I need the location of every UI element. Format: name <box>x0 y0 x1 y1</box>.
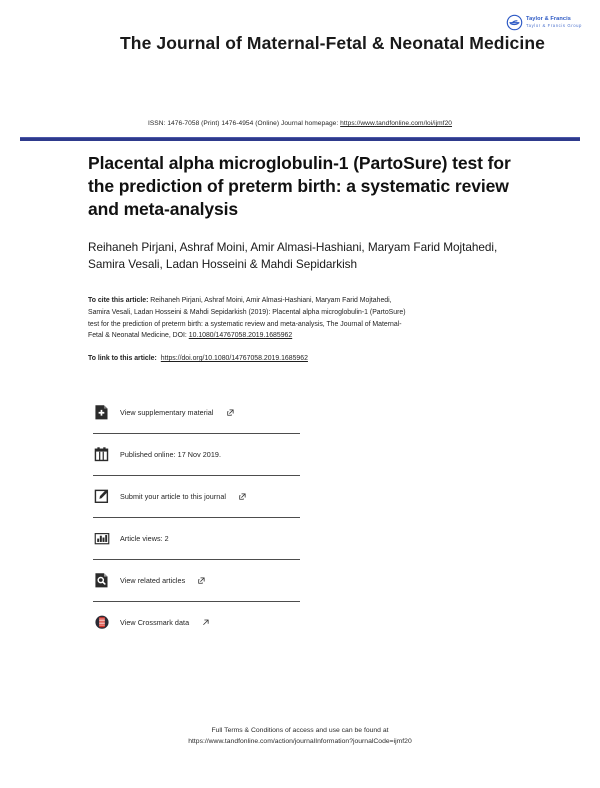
action-label: View Crossmark data <box>120 618 189 627</box>
page-footer: Full Terms & Conditions of access and us… <box>0 726 600 747</box>
issn-line: ISSN: 1476-7058 (Print) 1476-4954 (Onlin… <box>0 120 600 127</box>
taylor-francis-circle-icon <box>506 14 523 31</box>
journal-title: The Journal of Maternal-Fetal & Neonatal… <box>120 33 545 54</box>
action-submit-article[interactable]: Submit your article to this journal <box>93 476 308 517</box>
footer-url-line: https://www.tandfonline.com/action/journ… <box>0 737 600 748</box>
link-label: To link to this article: <box>88 355 157 362</box>
issn-text: ISSN: 1476-7058 (Print) 1476-4954 (Onlin… <box>148 120 340 127</box>
calendar-icon <box>93 445 111 464</box>
publisher-name: Taylor & Francis <box>526 17 582 23</box>
external-link-icon <box>202 619 209 626</box>
action-published-online: Published online: 17 Nov 2019. <box>93 434 308 475</box>
publisher-tagline: Taylor & Francis Group <box>526 24 582 28</box>
external-link-icon <box>239 493 246 500</box>
footer-terms-line: Full Terms & Conditions of access and us… <box>0 726 600 737</box>
taylor-francis-logo-text: Taylor & Francis Taylor & Francis Group <box>526 17 582 28</box>
article-authors: Reihaneh Pirjani, Ashraf Moini, Amir Alm… <box>88 239 518 273</box>
action-label: Submit your article to this journal <box>120 492 226 501</box>
masthead: The Journal of Maternal-Fetal & Neonatal… <box>0 0 600 120</box>
taylor-francis-logo: Taylor & Francis Taylor & Francis Group <box>506 14 582 31</box>
external-link-icon <box>198 577 205 584</box>
article-title: Placental alpha microglobulin-1 (PartoSu… <box>88 152 518 220</box>
supplementary-document-plus-icon <box>93 403 111 422</box>
action-view-related-articles[interactable]: View related articles <box>93 560 308 601</box>
citation-block: To cite this article: Reihaneh Pirjani, … <box>88 295 408 343</box>
article-cover-page: The Journal of Maternal-Fetal & Neonatal… <box>0 0 600 788</box>
action-label: Article views: 2 <box>120 534 169 543</box>
action-label: View supplementary material <box>120 408 214 417</box>
bar-chart-icon <box>93 529 111 548</box>
submit-pencil-icon <box>93 487 111 506</box>
article-link-block: To link to this article:https://doi.org/… <box>88 355 518 362</box>
article-info: Placental alpha microglobulin-1 (PartoSu… <box>88 152 518 362</box>
article-doi-link[interactable]: https://doi.org/10.1080/14767058.2019.16… <box>161 355 308 362</box>
citation-doi-link[interactable]: 10.1080/14767058.2019.1685962 <box>189 332 292 339</box>
action-label: Published online: 17 Nov 2019. <box>120 450 221 459</box>
action-view-supplementary-material[interactable]: View supplementary material <box>93 392 308 433</box>
crossmark-icon <box>93 613 111 632</box>
action-article-views: Article views: 2 <box>93 518 308 559</box>
journal-homepage-link[interactable]: https://www.tandfonline.com/loi/ijmf20 <box>340 120 452 127</box>
cite-label: To cite this article: <box>88 297 148 304</box>
action-label: View related articles <box>120 576 185 585</box>
masthead-divider <box>20 137 580 141</box>
article-actions-list: View supplementary material Published on… <box>93 392 308 643</box>
related-articles-search-icon <box>93 571 111 590</box>
external-link-icon <box>227 409 234 416</box>
action-view-crossmark-data[interactable]: View Crossmark data <box>93 602 308 643</box>
